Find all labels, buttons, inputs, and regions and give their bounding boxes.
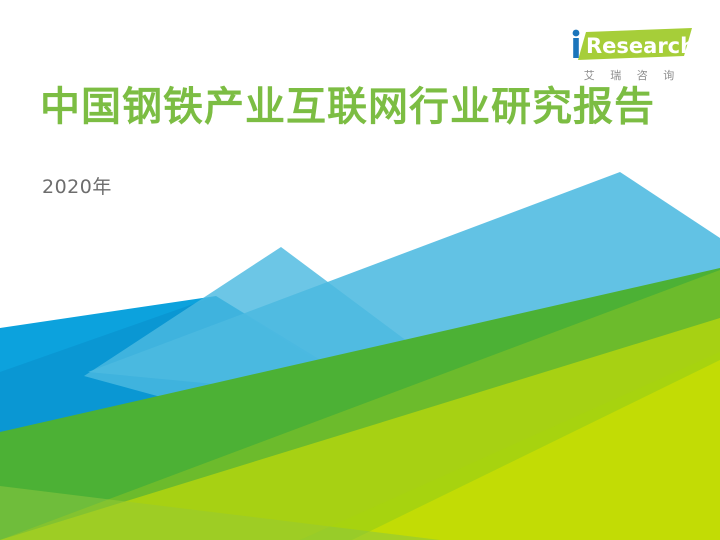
iresearch-logo-subtitle: 艾 瑞 咨 询 bbox=[564, 67, 694, 83]
shape-green-wedge-soft bbox=[0, 486, 440, 540]
logo-i-dot-icon bbox=[573, 30, 580, 37]
shape-blue-peak-left bbox=[0, 296, 500, 494]
iresearch-logo: Research 艾 瑞 咨 询 bbox=[564, 26, 694, 83]
shape-blue-peak-mid bbox=[84, 247, 486, 486]
shape-green-band bbox=[0, 270, 720, 540]
shape-blue-wedge-left bbox=[0, 296, 470, 520]
iresearch-logo-mark: Research bbox=[564, 26, 694, 62]
shape-green-field-main bbox=[0, 268, 720, 540]
report-year-subtitle: 2020年 bbox=[42, 172, 112, 199]
report-title: 中国钢铁产业互联网行业研究报告 bbox=[40, 84, 655, 130]
report-cover-slide: Research 艾 瑞 咨 询 中国钢铁产业互联网行业研究报告 2020年 bbox=[0, 0, 720, 540]
logo-i-stem-icon bbox=[573, 38, 579, 58]
iresearch-wordmark-icon: Research bbox=[564, 26, 694, 62]
shape-blue-ridge-large bbox=[88, 172, 720, 432]
shape-green-field-yellow bbox=[352, 360, 720, 540]
shape-green-field-lime bbox=[0, 318, 720, 540]
logo-research-text: Research bbox=[586, 34, 694, 58]
